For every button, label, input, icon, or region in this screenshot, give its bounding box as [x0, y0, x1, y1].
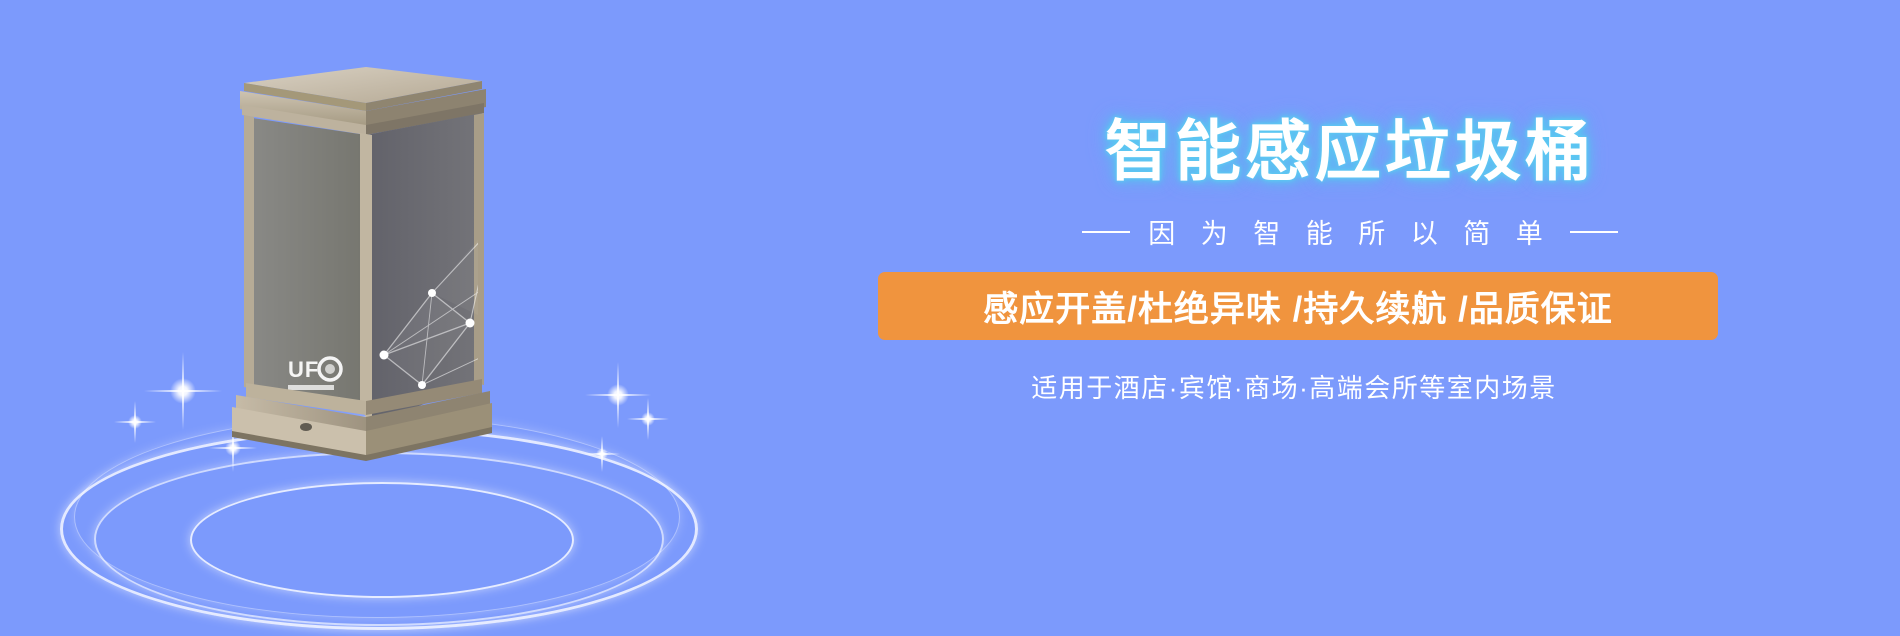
tagline-text: 因 为 智 能 所 以 简 单	[1148, 212, 1552, 251]
tagline: 因 为 智 能 所 以 简 单	[860, 212, 1840, 251]
product-hero-banner: UF 智能感应垃圾桶	[0, 0, 1900, 636]
page-title: 智能感应垃圾桶	[860, 118, 1840, 184]
copy-block: 智能感应垃圾桶 因 为 智 能 所 以 简 单 感应开盖/杜绝异味 /持久续航 …	[860, 0, 1900, 636]
product-scene: UF	[0, 0, 820, 636]
svg-text:UF: UF	[288, 357, 319, 382]
usage-scenarios-text: 适用于酒店·宾馆·商场·高端会所等室内场景	[860, 368, 1728, 405]
tagline-dash-right	[1570, 231, 1618, 233]
tagline-dash-left	[1082, 231, 1130, 233]
ripple-ring-inner	[190, 482, 574, 598]
smart-trash-bin-image: UF	[232, 55, 492, 475]
feature-badge: 感应开盖/杜绝异味 /持久续航 /品质保证	[878, 272, 1718, 340]
